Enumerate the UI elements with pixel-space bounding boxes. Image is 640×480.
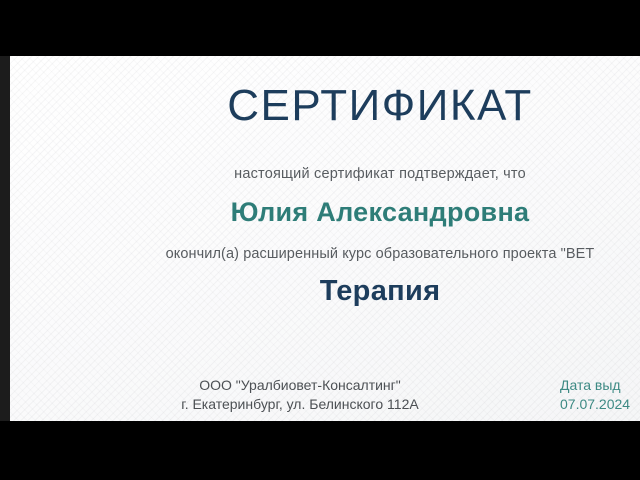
recipient-name: Юлия Александровна [10, 196, 640, 228]
certificate-title: СЕРТИФИКАТ [10, 84, 640, 128]
letterbox-top [0, 0, 640, 56]
image-viewer: СЕРТИФИКАТ настоящий сертификат подтверж… [0, 0, 640, 480]
issue-date-block: Дата выд 07.07.2024 [560, 376, 640, 414]
course-name: Терапия [10, 274, 640, 309]
issue-date-value: 07.07.2024 [560, 395, 640, 414]
issuer-block: ООО "Уралбиовет-Консалтинг" г. Екатеринб… [120, 376, 480, 414]
issue-date-label: Дата выд [560, 376, 640, 395]
certificate-document: СЕРТИФИКАТ настоящий сертификат подтверж… [10, 56, 640, 421]
letterbox-bottom [0, 421, 640, 480]
letterbox-left [0, 56, 10, 421]
certificate-content: СЕРТИФИКАТ настоящий сертификат подтверж… [10, 56, 640, 421]
issuer-address: г. Екатеринбург, ул. Белинского 112А [120, 395, 480, 414]
course-intro-text: окончил(а) расширенный курс образователь… [10, 246, 640, 262]
certificate-subtitle: настоящий сертификат подтверждает, что [10, 166, 640, 182]
issuer-organization: ООО "Уралбиовет-Консалтинг" [120, 376, 480, 395]
